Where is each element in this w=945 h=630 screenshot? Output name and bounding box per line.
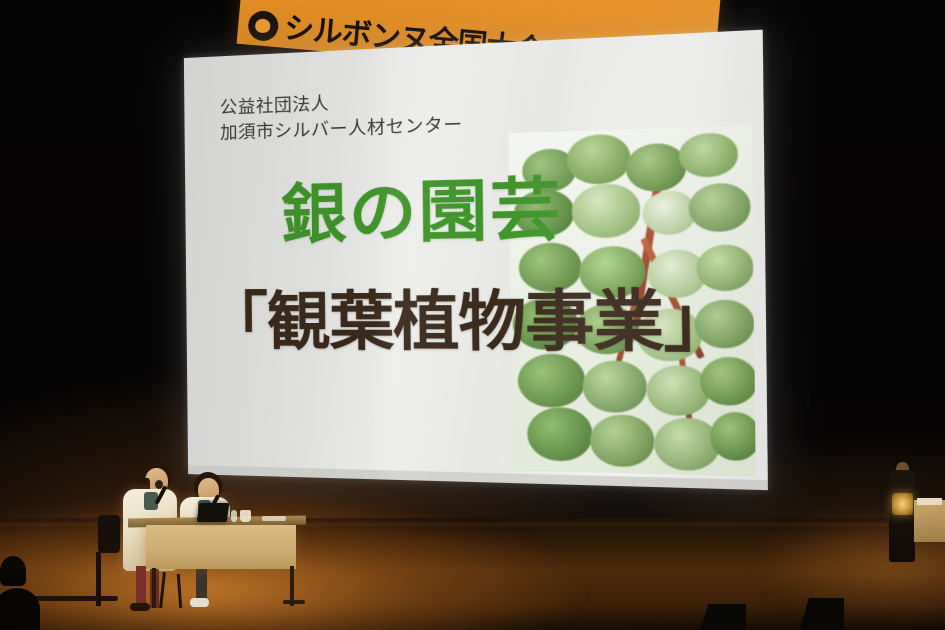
event-logo-icon (247, 10, 280, 43)
slide-title: 銀の園芸 (281, 176, 563, 248)
desk-foot-right (283, 600, 305, 604)
presenter-left-shoe (130, 603, 150, 611)
side-table-item (917, 498, 942, 505)
presentation-slide: 公益社団法人 加須市シルバー人材センター (184, 30, 768, 491)
auditorium-scene: シルボンヌ全国大会 2024 in 埼玉 公益社団法人 加須市シルバー人材センタ… (0, 0, 945, 630)
slide-subtitle: 「観葉植物事業」 (206, 288, 735, 356)
slide-organization: 公益社団法人 加須市シルバー人材センター (220, 86, 463, 147)
presenter-left-legs (136, 566, 146, 608)
chair-base-bar (26, 596, 118, 601)
paper-document[interactable] (262, 516, 286, 521)
projection-screen-surface: 公益社団法人 加須市シルバー人材センター (184, 30, 768, 491)
illuminated-object (892, 493, 913, 515)
drinking-cup[interactable] (240, 510, 251, 522)
laptop-screen[interactable] (197, 503, 230, 522)
audience-silhouette (0, 588, 40, 630)
audience-silhouette-2 (0, 556, 26, 586)
side-table (914, 500, 945, 542)
chair-backrest[interactable] (98, 515, 120, 553)
presenter-left-mic-head (155, 480, 163, 489)
presenter-desk-panel (146, 525, 296, 569)
water-bottle[interactable] (231, 510, 237, 522)
desk-leg-left (152, 568, 156, 608)
stage-assistant-body (889, 470, 915, 562)
presenter-right-shoe (190, 598, 209, 607)
